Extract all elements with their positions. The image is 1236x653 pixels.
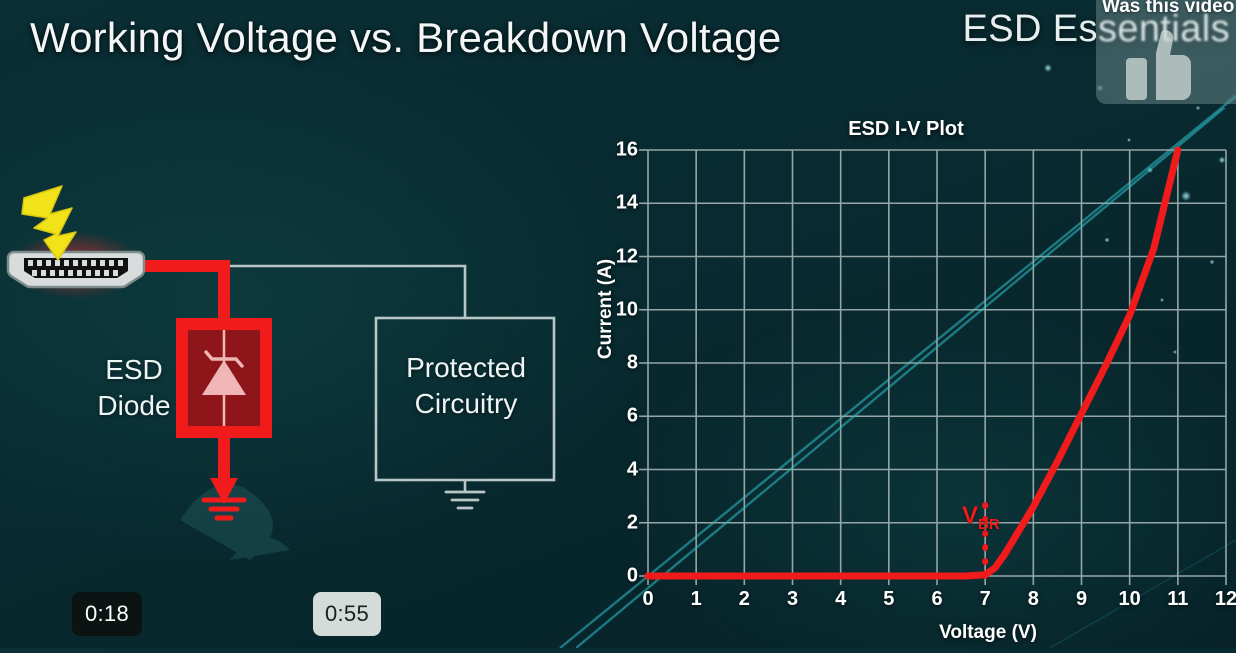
protected-ground-icon xyxy=(446,492,484,508)
survey-question: Was this video helpful? xyxy=(1102,0,1236,18)
x-tick-6: 6 xyxy=(931,588,942,611)
esd-wire xyxy=(140,266,224,318)
x-tick-10: 10 xyxy=(1119,588,1141,611)
x-tick-7: 7 xyxy=(980,588,991,611)
x-tick-2: 2 xyxy=(739,588,750,611)
x-tick-8: 8 xyxy=(1028,588,1039,611)
x-tick-0: 0 xyxy=(642,588,653,611)
thumbs-up-icon[interactable] xyxy=(1126,28,1204,100)
signal-wire xyxy=(140,266,465,318)
protected-label-line2: Circuitry xyxy=(378,386,554,422)
esd-diode-box xyxy=(176,318,272,438)
x-tick-11: 11 xyxy=(1167,588,1188,611)
x-tick-labels: 0123456789101112 xyxy=(576,108,1236,648)
vbr-sub: BR xyxy=(978,516,1000,533)
protected-circuitry-label: Protected Circuitry xyxy=(378,350,554,422)
x-tick-1: 1 xyxy=(691,588,702,611)
x-tick-4: 4 xyxy=(835,588,846,611)
vbr-main: V xyxy=(962,502,978,529)
survey-overlay[interactable]: Was this video helpful? xyxy=(1096,0,1236,104)
total-time-badge[interactable]: 0:55 xyxy=(313,592,381,636)
breakdown-voltage-label: VBR xyxy=(962,502,1000,533)
esd-iv-chart: ESD I-V Plot Current (A) Voltage (V) 024… xyxy=(576,108,1236,648)
page-title: Working Voltage vs. Breakdown Voltage xyxy=(30,14,781,62)
hdmi-connector-icon xyxy=(8,252,144,287)
x-tick-12: 12 xyxy=(1215,588,1236,611)
x-tick-3: 3 xyxy=(787,588,798,611)
protected-label-line1: Protected xyxy=(378,350,554,386)
esd-diode-label: ESD Diode xyxy=(88,352,180,424)
current-time-badge[interactable]: 0:18 xyxy=(72,592,142,636)
esd-diode-label-line1: ESD xyxy=(88,352,180,388)
x-tick-9: 9 xyxy=(1076,588,1087,611)
esd-diode-label-line2: Diode xyxy=(88,388,180,424)
x-tick-5: 5 xyxy=(883,588,894,611)
